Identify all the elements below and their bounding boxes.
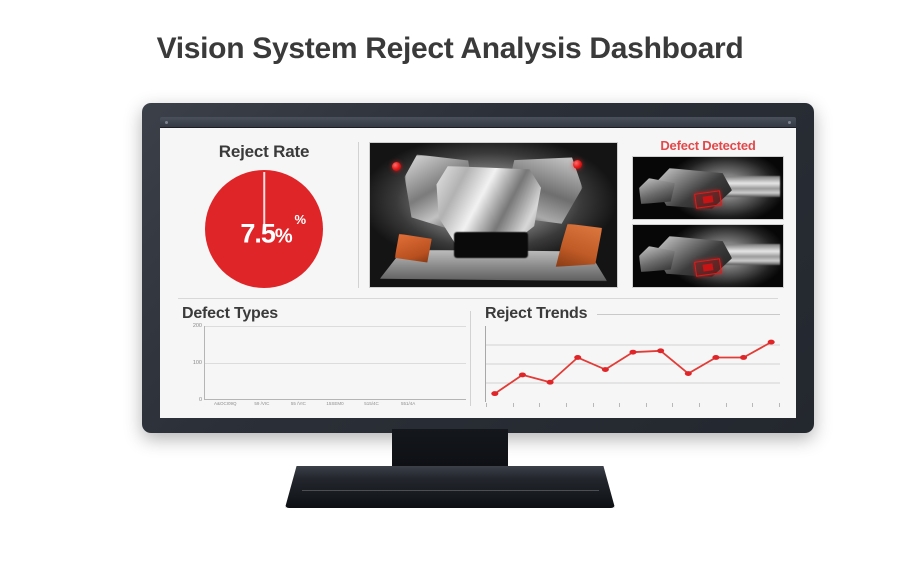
y-tick-label: 200 xyxy=(193,323,202,329)
x-tick xyxy=(513,403,514,407)
gridline xyxy=(205,363,466,364)
reject-rate-pie-chart[interactable]: % 7.5% xyxy=(205,170,323,288)
x-tick xyxy=(593,403,594,407)
monitor: Reject Rate % 7.5% xyxy=(142,103,814,433)
data-point-marker[interactable] xyxy=(685,371,692,376)
data-point-marker[interactable] xyxy=(602,367,609,372)
x-tick xyxy=(752,403,753,407)
reject-trends-line-chart[interactable] xyxy=(485,326,780,412)
monitor-screen: Reject Rate % 7.5% xyxy=(160,128,796,418)
gridline xyxy=(205,326,466,327)
defect-types-bar-chart[interactable]: 2001000 A&OCI09Q59 /VIC55 /VIC15SEM0515/… xyxy=(182,326,466,412)
reject-rate-heading: Reject Rate xyxy=(219,142,309,162)
x-axis-label: 515/4C xyxy=(355,401,389,412)
y-tick-label: 100 xyxy=(193,360,202,366)
data-point-marker[interactable] xyxy=(657,348,664,353)
data-point-marker[interactable] xyxy=(768,340,775,345)
defect-thumbnail-2[interactable] xyxy=(632,224,784,288)
reject-trends-header: Reject Trends xyxy=(485,305,780,323)
data-point-marker[interactable] xyxy=(519,372,526,377)
pie-value-number: 7.5 xyxy=(240,218,275,248)
page-title: Vision System Reject Analysis Dashboard xyxy=(0,32,900,66)
stand-base-highlight xyxy=(302,490,599,491)
camera-main-image[interactable] xyxy=(369,142,618,288)
line-chart-plot xyxy=(485,326,780,402)
panel-defect-types[interactable]: Defect Types 2001000 A&OCI09Q59 /VIC55 /… xyxy=(170,305,470,412)
bezel-indicator-left-icon xyxy=(165,121,168,124)
x-tick xyxy=(566,403,567,407)
x-tick xyxy=(539,403,540,407)
pie-value-unit: % xyxy=(275,225,292,247)
data-point-marker[interactable] xyxy=(547,380,554,385)
dashboard-top-row: Reject Rate % 7.5% xyxy=(170,136,786,294)
x-axis-label xyxy=(428,401,462,412)
fixture-block xyxy=(454,232,528,258)
thumb1-defect-marker-icon xyxy=(694,190,721,208)
status-badge-defect-detected: Defect Detected xyxy=(632,138,784,153)
x-axis-label: 15SEM0 xyxy=(318,401,352,412)
data-point-marker[interactable] xyxy=(740,355,747,360)
bezel-indicator-right-icon xyxy=(788,121,791,124)
dashboard: Reject Rate % 7.5% xyxy=(160,128,796,418)
line-chart-x-ticks xyxy=(486,403,780,409)
x-tick xyxy=(672,403,673,407)
thumb2-defect-marker-icon xyxy=(694,258,721,276)
bar-chart-y-axis: 2001000 xyxy=(182,326,204,400)
dashboard-bottom-row: Defect Types 2001000 A&OCI09Q59 /VIC55 /… xyxy=(170,299,786,412)
copper-component-left xyxy=(395,234,432,263)
reject-trends-heading: Reject Trends xyxy=(485,305,587,323)
panel-reject-trends[interactable]: Reject Trends xyxy=(471,305,786,412)
x-axis-label: 59 /VIC xyxy=(245,401,279,412)
monitor-stand-base xyxy=(285,466,615,508)
data-point-marker[interactable] xyxy=(629,350,636,355)
line-chart-svg xyxy=(486,326,780,402)
bezel-top-strip xyxy=(160,117,796,128)
x-axis-label: 551/4A xyxy=(391,401,425,412)
status-led-left-icon xyxy=(392,162,401,171)
panel-reject-rate[interactable]: Reject Rate % 7.5% xyxy=(170,136,358,294)
x-axis-label: A&OCI09Q xyxy=(208,401,242,412)
panel-defect-detected[interactable]: Defect Detected xyxy=(624,136,786,294)
heading-rule xyxy=(597,314,780,315)
monitor-bezel: Reject Rate % 7.5% xyxy=(142,103,814,433)
defect-thumbnail-1[interactable] xyxy=(632,156,784,220)
pie-center-value: 7.5% xyxy=(205,218,323,249)
data-point-marker[interactable] xyxy=(712,355,719,360)
bar-chart-x-labels: A&OCI09Q59 /VIC55 /VIC15SEM0515/4C551/4A xyxy=(204,400,466,412)
x-tick xyxy=(486,403,487,407)
bar-chart-plot xyxy=(204,326,466,400)
x-tick xyxy=(619,403,620,407)
x-tick xyxy=(699,403,700,407)
defect-types-heading: Defect Types xyxy=(182,305,466,323)
data-point-marker[interactable] xyxy=(491,391,498,396)
x-axis-label: 55 /VIC xyxy=(281,401,315,412)
data-point-marker[interactable] xyxy=(574,355,581,360)
panel-camera-feed[interactable] xyxy=(359,136,624,294)
x-tick xyxy=(726,403,727,407)
y-tick-label: 0 xyxy=(199,397,202,403)
x-tick xyxy=(779,403,780,407)
x-tick xyxy=(646,403,647,407)
